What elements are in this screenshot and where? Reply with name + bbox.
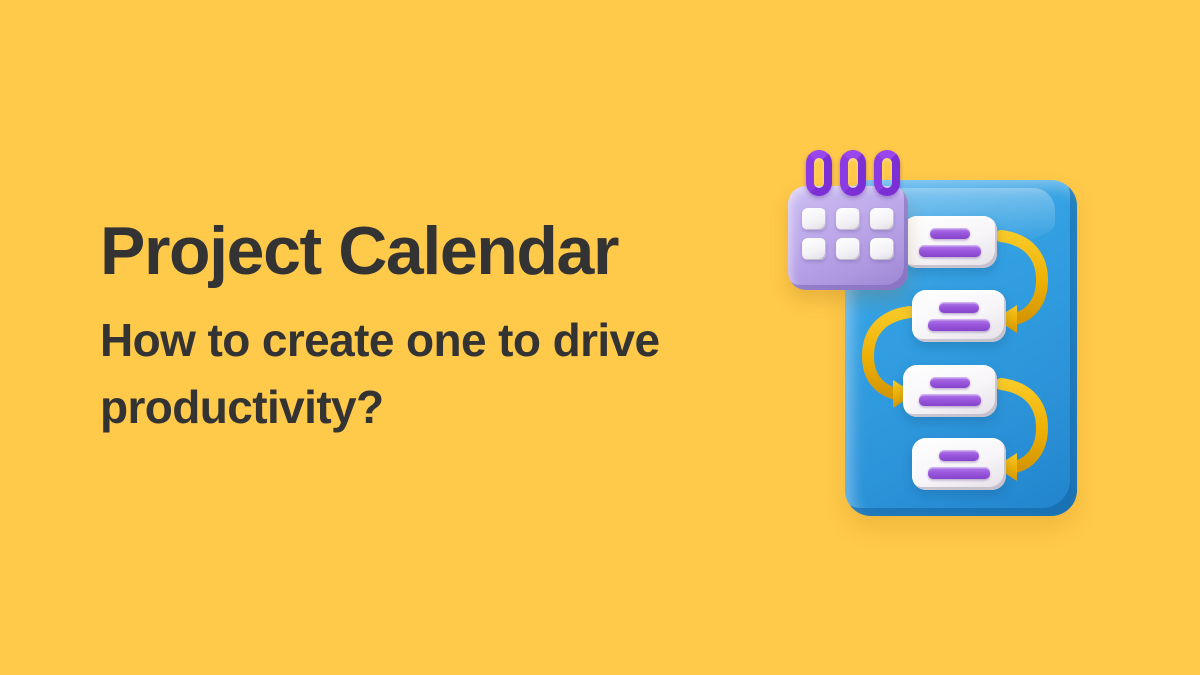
calendar-day-cell — [802, 208, 826, 230]
calendar-day-cell — [870, 208, 894, 230]
page-title: Project Calendar — [100, 215, 740, 287]
task-bar-short — [939, 302, 979, 313]
project-calendar-illustration: 3D calendar with a blue task board showi… — [770, 140, 1100, 540]
task-bar-short — [930, 377, 970, 388]
calendar-ring-icon — [840, 150, 866, 196]
calendar-icon — [788, 150, 908, 290]
calendar-ring-icon — [874, 150, 900, 196]
calendar-day-cell — [870, 238, 894, 260]
banner-root: Project Calendar How to create one to dr… — [0, 0, 1200, 675]
calendar-day-cell — [836, 208, 860, 230]
page-subtitle: How to create one to drive productivity? — [100, 307, 660, 440]
task-bar-long — [919, 245, 981, 257]
task-bar-long — [928, 467, 990, 479]
calendar-ring-icon — [806, 150, 832, 196]
task-card — [903, 365, 997, 417]
calendar-day-cell — [802, 238, 826, 260]
task-card — [912, 438, 1006, 490]
task-bar-long — [919, 394, 981, 406]
text-block: Project Calendar How to create one to dr… — [100, 215, 740, 440]
task-bar-short — [939, 450, 979, 461]
task-card — [912, 290, 1006, 342]
task-card — [903, 216, 997, 268]
calendar-grid — [802, 208, 894, 260]
task-bar-short — [930, 228, 970, 239]
calendar-day-cell — [836, 238, 860, 260]
task-bar-long — [928, 319, 990, 331]
